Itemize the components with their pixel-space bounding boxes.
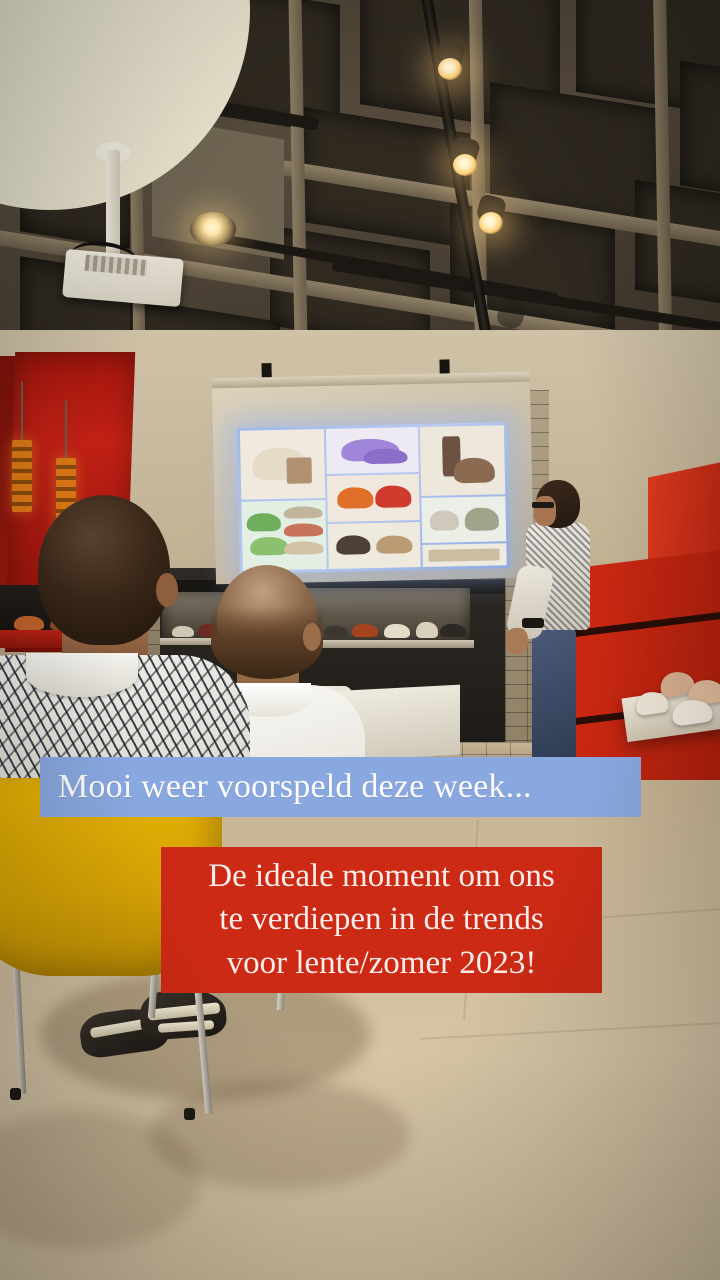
displayed-shoe xyxy=(440,624,466,637)
collage-tile xyxy=(421,496,506,543)
chair-foot xyxy=(10,1088,21,1100)
presenter-glasses xyxy=(532,502,554,508)
coffered-ceiling xyxy=(0,0,720,372)
collage-tile xyxy=(326,427,418,474)
ceiling-coffer xyxy=(635,180,720,311)
ear xyxy=(303,623,321,651)
shirt-collar xyxy=(26,653,138,697)
projector-body xyxy=(62,249,184,307)
collage-tile xyxy=(328,522,420,569)
caption-box-line-1: De ideale moment om ons xyxy=(208,855,554,899)
caption-banner-blue: Mooi weer voorspeld deze week... xyxy=(40,757,641,817)
track-spotlight xyxy=(437,42,463,82)
displayed-shoe xyxy=(384,624,410,638)
tile-seam xyxy=(420,1022,720,1040)
track-spotlight xyxy=(452,138,478,178)
displayed-shoe xyxy=(352,624,378,637)
presenter-legs xyxy=(532,628,576,768)
presenter-watch xyxy=(522,618,544,628)
presenter-face xyxy=(534,496,556,526)
ear xyxy=(156,573,178,607)
chair-foot xyxy=(184,1108,195,1120)
caption-banner-text: Mooi weer voorspeld deze week... xyxy=(40,770,532,804)
ceiling-coffer xyxy=(680,60,720,204)
track-spotlight xyxy=(478,196,504,236)
collage-tile xyxy=(422,544,507,567)
standing-presenter xyxy=(520,480,606,770)
projected-shoe-collage xyxy=(237,422,510,574)
caption-box-line-3: voor lente/zomer 2023! xyxy=(227,942,537,986)
caption-box-red: De ideale moment om ons te verdiepen in … xyxy=(161,847,602,993)
presenter-hand xyxy=(506,628,528,654)
displayed-shoe xyxy=(416,622,438,638)
collage-tile xyxy=(327,474,419,521)
head xyxy=(38,495,170,645)
collage-tile xyxy=(240,429,326,500)
collage-tile xyxy=(419,425,505,496)
ceiling-projector xyxy=(60,150,220,310)
story-photo-canvas: Mooi weer voorspeld deze week... De idea… xyxy=(0,0,720,1280)
caption-box-line-2: te verdiepen in de trends xyxy=(219,898,543,942)
